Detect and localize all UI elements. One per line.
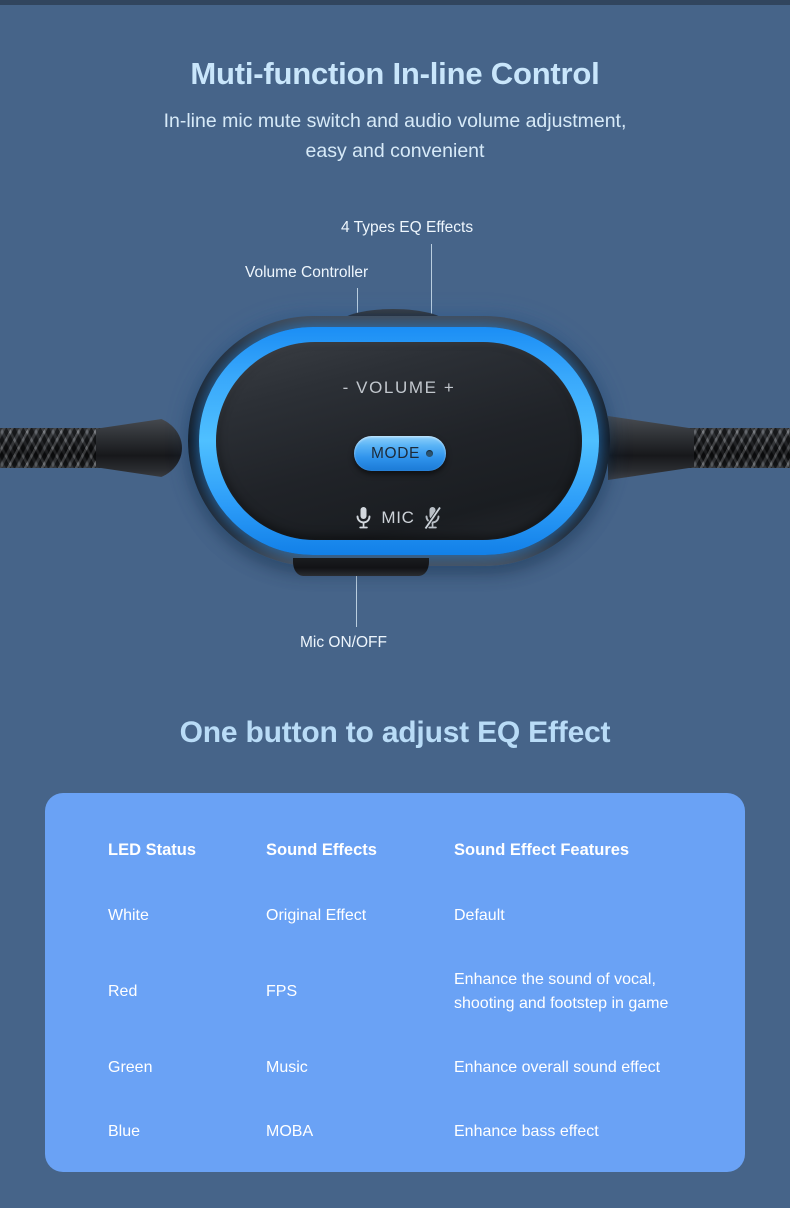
table-header-row: LED Status Sound Effects Sound Effect Fe…	[108, 841, 708, 904]
cell-sound-feature: Default	[454, 904, 708, 968]
page-subtitle-line2: easy and convenient	[0, 136, 790, 166]
cell-feature-line1: Default	[454, 907, 505, 924]
strain-relief-right	[608, 416, 694, 480]
strain-relief-left	[96, 416, 182, 480]
eq-table-header: LED Status Sound Effects Sound Effect Fe…	[108, 841, 708, 904]
cell-sound-effect: Original Effect	[266, 904, 454, 968]
column-header-sound-features: Sound Effect Features	[454, 841, 708, 904]
cell-sound-effect: Music	[266, 1056, 454, 1120]
callout-label-mic-on-off: Mic ON/OFF	[300, 634, 387, 652]
mode-led-indicator	[426, 450, 433, 457]
mode-button-label: MODE	[371, 445, 420, 463]
cell-sound-effect: MOBA	[266, 1120, 454, 1144]
cell-sound-feature: Enhance bass effect	[454, 1120, 708, 1144]
inline-control-module: - VOLUME + MODE MIC	[188, 316, 610, 566]
eq-section-heading: One button to adjust EQ Effect	[0, 716, 790, 750]
callout-label-eq-effects: 4 Types EQ Effects	[341, 219, 473, 237]
cell-sound-feature: Enhance the sound of vocal, shooting and…	[454, 968, 708, 1056]
table-row: Red FPS Enhance the sound of vocal, shoo…	[108, 968, 708, 1056]
mode-button[interactable]: MODE	[354, 436, 446, 471]
top-edge-strip	[0, 0, 790, 5]
cell-sound-feature: Enhance overall sound effect	[454, 1056, 708, 1120]
eq-table-card: LED Status Sound Effects Sound Effect Fe…	[45, 793, 745, 1172]
volume-control-label[interactable]: - VOLUME +	[188, 378, 610, 398]
eq-effects-table: LED Status Sound Effects Sound Effect Fe…	[108, 841, 708, 1144]
cell-feature-line1: Enhance the sound of vocal,	[454, 968, 708, 992]
mic-switch-row[interactable]: MIC	[188, 506, 610, 530]
column-header-sound-effects: Sound Effects	[266, 841, 454, 904]
cell-feature-line2: shooting and footstep in game	[454, 992, 708, 1016]
page-subtitle: In-line mic mute switch and audio volume…	[0, 106, 790, 166]
table-row: Blue MOBA Enhance bass effect	[108, 1120, 708, 1144]
microphone-icon	[355, 506, 372, 530]
page-title: Muti-function In-line Control	[0, 52, 790, 96]
table-row: Green Music Enhance overall sound effect	[108, 1056, 708, 1120]
mic-label: MIC	[381, 508, 414, 528]
callout-label-volume-controller: Volume Controller	[245, 264, 368, 282]
eq-table-body: White Original Effect Default Red FPS En…	[108, 904, 708, 1144]
cell-led-status: White	[108, 904, 266, 968]
table-row: White Original Effect Default	[108, 904, 708, 968]
column-header-led-status: LED Status	[108, 841, 266, 904]
page-subtitle-line1: In-line mic mute switch and audio volume…	[0, 106, 790, 136]
cell-led-status: Red	[108, 968, 266, 1056]
cell-led-status: Blue	[108, 1120, 266, 1144]
cell-led-status: Green	[108, 1056, 266, 1120]
cell-feature-line1: Enhance overall sound effect	[454, 1059, 660, 1076]
cell-sound-effect: FPS	[266, 968, 454, 1056]
module-clip-tab	[293, 558, 429, 576]
cell-feature-line1: Enhance bass effect	[454, 1123, 599, 1140]
microphone-muted-icon	[424, 506, 443, 530]
header-block: Muti-function In-line Control In-line mi…	[0, 52, 790, 166]
